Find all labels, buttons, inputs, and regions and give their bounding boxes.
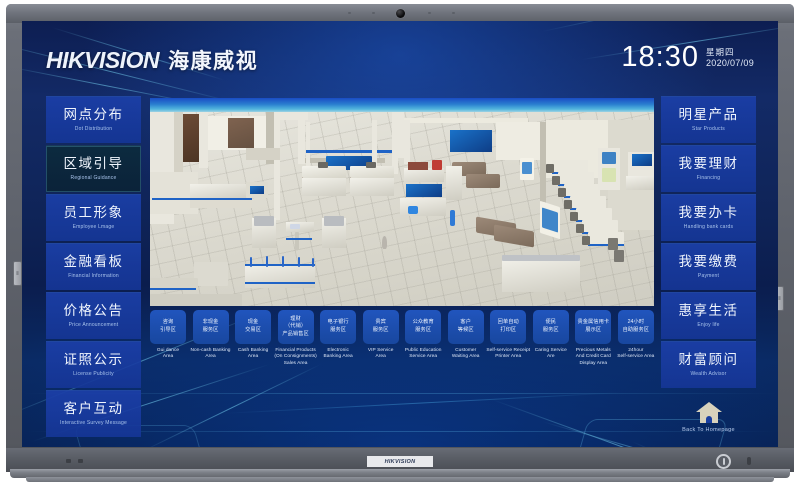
zone-label-cn: 贵宾服务区 xyxy=(373,319,389,334)
menu-item-label-en: Wealth Advisor xyxy=(690,372,726,378)
zone-label-cn: 客户等候区 xyxy=(458,319,474,334)
zone-chip[interactable]: 便民服务区 xyxy=(533,310,569,344)
menu-item-label-cn: 证照公示 xyxy=(64,352,124,368)
clock-date: 2020/07/09 xyxy=(706,58,754,70)
menu-item-label-cn: 金融看板 xyxy=(64,254,124,270)
left-menu-item-7[interactable]: 客户互动Interactive Survey Message xyxy=(46,390,141,437)
cabinet xyxy=(194,262,228,286)
right-sidebar-menu: 明星产品Star Products我要理财Financing我要办卡Handli… xyxy=(661,96,756,440)
menu-item-label-cn: 区域引导 xyxy=(64,156,124,172)
home-button-label: Back To Homepage xyxy=(682,427,735,433)
ir-receiver-icon xyxy=(747,457,751,465)
blue-trim xyxy=(286,238,312,240)
zone-label-cn: 回单自动打印区 xyxy=(498,319,519,334)
blue-trim xyxy=(588,244,624,246)
menu-item-label-en: Price Announcement xyxy=(69,323,119,329)
divider xyxy=(298,257,300,267)
zone-legend-item-6[interactable]: 贵宾服务区VIP ServiceArea xyxy=(363,310,399,367)
zone-label-en: Caring ServiceAre xyxy=(529,348,573,361)
zone-label-cn: 现金交易区 xyxy=(245,319,261,334)
zone-chip[interactable]: 客户等候区 xyxy=(448,310,484,344)
zone-chip[interactable]: 公众教育服务区 xyxy=(405,310,441,344)
display-monitor xyxy=(406,184,442,197)
decor xyxy=(432,160,442,170)
clock-widget: 18:30 星期四 2020/07/09 xyxy=(621,43,754,72)
bezel-speck xyxy=(348,12,351,14)
zone-chip[interactable]: 电子银行服务区 xyxy=(320,310,356,344)
wall xyxy=(496,122,540,160)
zone-label-cn: 24小时自助服务区 xyxy=(623,319,649,334)
right-menu-item-2[interactable]: 我要理财Financing xyxy=(661,145,756,192)
zone-label-en: Self-service ReceiptPrinter Area xyxy=(486,348,530,361)
menu-item-label-cn: 我要理财 xyxy=(679,156,739,172)
render-sky xyxy=(150,98,654,112)
zone-chip[interactable]: 非现金服务区 xyxy=(193,310,229,344)
chair xyxy=(564,200,572,209)
water-dispenser xyxy=(450,210,455,226)
menu-item-label-cn: 惠享生活 xyxy=(679,303,739,319)
blue-trim xyxy=(150,288,196,290)
wall xyxy=(298,112,305,164)
zone-label-cn: 便民服务区 xyxy=(543,319,559,334)
partition xyxy=(150,294,242,306)
center-content-panel: 咨询引导区Gui danceArea非现金服务区Non-cash Banking… xyxy=(150,98,654,388)
menu-item-label-cn: 明星产品 xyxy=(679,107,739,123)
zone-legend-row: 咨询引导区Gui danceArea非现金服务区Non-cash Banking… xyxy=(150,310,654,367)
screen-header: HIKVISION 海康威视 18:30 星期四 2020/07/09 xyxy=(22,21,778,91)
divider xyxy=(266,256,268,267)
menu-item-label-en: License Publicity xyxy=(73,372,114,378)
chair xyxy=(552,176,560,185)
right-menu-item-3[interactable]: 我要办卡Handling bank cards xyxy=(661,194,756,241)
bezel-speck xyxy=(452,12,455,14)
person-figure xyxy=(382,236,387,249)
menu-item-label-en: Enjoy life xyxy=(697,323,719,329)
menu-item-label-en: Star Products xyxy=(692,127,725,133)
monitor-stand-base xyxy=(26,477,774,482)
zone-legend-item-5[interactable]: 电子银行服务区ElectronicBanking Area xyxy=(320,310,356,367)
consult-desk xyxy=(404,168,444,182)
menu-item-label-en: Interactive Survey Message xyxy=(60,421,127,427)
right-menu-item-4[interactable]: 我要缴费Payment xyxy=(661,243,756,290)
divider xyxy=(250,257,252,267)
right-menu-item-6[interactable]: 财富顾问Wealth Advisor xyxy=(661,341,756,388)
left-menu-item-3[interactable]: 员工形象Employee Lmage xyxy=(46,194,141,241)
teller-counter xyxy=(350,178,394,196)
menu-item-label-cn: 价格公告 xyxy=(64,303,124,319)
poster-art xyxy=(522,162,532,174)
left-side-button[interactable]: ⦀ xyxy=(13,261,22,286)
led-video-wall xyxy=(450,130,492,152)
zone-label-en: Cash BankingArea xyxy=(231,348,275,361)
zone-label-cn: 理财（代销）产品销售区 xyxy=(282,316,308,339)
left-sidebar-menu: 网点分布Dot Distribution区域引导Regional Guidanc… xyxy=(46,96,141,439)
service-counter xyxy=(190,184,252,198)
clock-weekday: 星期四 xyxy=(706,47,754,58)
side-cabinet xyxy=(446,166,462,200)
zone-chip[interactable]: 理财（代销）产品销售区 xyxy=(278,310,314,344)
zone-label-cn: 咨询引导区 xyxy=(160,319,176,334)
chair xyxy=(608,238,618,250)
zone-legend-item-2[interactable]: 非现金服务区Non-cash BankingArea xyxy=(193,310,229,367)
zone-legend-item-10[interactable]: 便民服务区Caring ServiceAre xyxy=(533,310,569,367)
floorplan-3d-render[interactable] xyxy=(150,98,654,306)
atm-screen xyxy=(602,152,616,164)
touch-panel xyxy=(408,206,418,214)
menu-item-label-en: Financial Information xyxy=(68,274,119,280)
zone-label-en: ElectronicBanking Area xyxy=(316,348,360,361)
left-menu-item-2[interactable]: 区域引导Regional Guidance xyxy=(46,145,141,192)
menu-item-label-cn: 员工形象 xyxy=(64,205,124,221)
kiosk-screen xyxy=(632,154,652,166)
clock-date-block: 星期四 2020/07/09 xyxy=(706,43,754,70)
wall xyxy=(404,120,410,164)
zone-label-en: Financial Products(On Consignments)Sales… xyxy=(274,348,318,367)
menu-item-label-cn: 财富顾问 xyxy=(679,352,739,368)
menu-item-label-cn: 客户互动 xyxy=(64,401,124,417)
status-led xyxy=(78,459,83,463)
zone-legend-item-9[interactable]: 回单自动打印区Self-service ReceiptPrinter Area xyxy=(490,310,526,367)
zone-label-en: Gui danceArea xyxy=(146,348,190,361)
brand-logo: HIKVISION 海康威视 xyxy=(46,45,258,75)
logo-text-en: HIKVISION xyxy=(46,47,159,74)
blue-trim xyxy=(245,282,315,284)
menu-item-label-en: Payment xyxy=(698,274,719,280)
menu-item-label-cn: 我要办卡 xyxy=(679,205,739,221)
menu-item-label-en: Handling bank cards xyxy=(684,225,733,231)
chair xyxy=(582,236,590,245)
power-button-icon[interactable] xyxy=(716,454,731,469)
zone-label-cn: 公众教育服务区 xyxy=(413,319,434,334)
decor xyxy=(408,162,428,170)
divider xyxy=(282,256,284,267)
left-menu-item-1[interactable]: 网点分布Dot Distribution xyxy=(46,96,141,143)
zone-chip[interactable]: 贵宾服务区 xyxy=(363,310,399,344)
table-leg xyxy=(295,232,299,250)
left-menu-item-5[interactable]: 价格公告Price Announcement xyxy=(46,292,141,339)
bezel-brand-logo: HIKVISION xyxy=(367,456,433,467)
zone-label-en: Precious MetalsAnd Credit CardDisplay Ar… xyxy=(571,348,615,367)
menu-item-label-en: Employee Lmage xyxy=(73,225,115,231)
menu-item-label-cn: 网点分布 xyxy=(64,107,124,123)
menu-item-label-cn: 我要缴费 xyxy=(679,254,739,270)
left-menu-item-4[interactable]: 金融看板Financial Information xyxy=(46,243,141,290)
zone-label-cn: 非现金服务区 xyxy=(203,319,219,334)
zone-chip[interactable]: 回单自动打印区 xyxy=(490,310,526,344)
teller-counter xyxy=(302,178,346,196)
zone-legend-item-4[interactable]: 理财（代销）产品销售区Financial Products(On Consign… xyxy=(278,310,314,367)
zone-legend-item-8[interactable]: 客户等候区CustomerWaiting Area xyxy=(448,310,484,367)
zone-label-en: CustomerWaiting Area xyxy=(444,348,488,361)
right-menu-item-5[interactable]: 惠享生活Enjoy life xyxy=(661,292,756,339)
wood-panel xyxy=(228,118,254,148)
zone-chip[interactable]: 24小时自助服务区 xyxy=(618,310,654,344)
render-floor xyxy=(150,112,654,306)
wall xyxy=(246,148,280,160)
zone-label-cn: 贵金属信用卡展示区 xyxy=(577,319,609,334)
zone-label-en: Public EducationService Area xyxy=(401,348,445,361)
back-to-homepage-button[interactable]: Back To Homepage xyxy=(661,394,756,440)
display-screen: HIKVISION 海康威视 18:30 星期四 2020/07/09 网点分布… xyxy=(22,21,778,447)
zone-label-en: VIP ServiceArea xyxy=(359,348,403,361)
front-counter xyxy=(245,264,315,288)
chair xyxy=(576,224,584,233)
consult-counter xyxy=(400,198,446,216)
teller-chair xyxy=(318,162,328,168)
counter-top xyxy=(502,255,580,261)
zone-chip[interactable]: 贵金属信用卡展示区 xyxy=(575,310,611,344)
clock-time: 18:30 xyxy=(621,43,699,72)
zone-label-en: Non-cash BankingArea xyxy=(189,348,233,361)
zone-legend-item-11[interactable]: 贵金属信用卡展示区Precious MetalsAnd Credit CardD… xyxy=(575,310,611,367)
status-led xyxy=(66,459,71,463)
bezel-speck xyxy=(428,12,431,14)
wood-panel xyxy=(183,114,199,162)
wall xyxy=(372,120,377,168)
zone-legend-item-1[interactable]: 咨询引导区Gui danceArea xyxy=(150,310,186,367)
chair xyxy=(558,188,566,197)
blue-trim xyxy=(245,264,315,266)
waiting-sofa xyxy=(466,174,500,188)
left-menu-item-6[interactable]: 证照公示License Publicity xyxy=(46,341,141,388)
house-icon xyxy=(696,402,722,423)
chair xyxy=(614,250,624,262)
zone-chip[interactable]: 咨询引导区 xyxy=(150,310,186,344)
wall xyxy=(199,112,208,168)
blue-trim xyxy=(306,150,392,153)
monitor-device: ⦀ ⦀ HIKVISION 海康威视 18:30 xyxy=(0,0,800,486)
poster-art xyxy=(602,168,616,182)
teller-chair xyxy=(366,162,376,168)
zone-chip[interactable]: 现金交易区 xyxy=(235,310,271,344)
display-monitor xyxy=(250,186,264,194)
zone-label-cn: 电子银行服务区 xyxy=(328,319,349,334)
menu-item-label-en: Financing xyxy=(697,176,720,182)
kiosk-top xyxy=(254,216,274,226)
zone-label-en: 24hourSelf-service Area xyxy=(614,348,658,361)
divider xyxy=(312,258,314,267)
right-menu-item-1[interactable]: 明星产品Star Products xyxy=(661,96,756,143)
zone-legend-item-12[interactable]: 24小时自助服务区24hourSelf-service Area xyxy=(618,310,654,367)
kiosk-top xyxy=(324,216,344,226)
bezel-speck xyxy=(372,12,375,14)
zone-legend-item-3[interactable]: 现金交易区Cash BankingArea xyxy=(235,310,271,367)
wall xyxy=(306,122,310,166)
wall xyxy=(274,112,280,220)
menu-item-label-en: Dot Distribution xyxy=(75,127,112,133)
menu-item-label-en: Regional Guidance xyxy=(71,176,117,182)
service-counter xyxy=(190,200,252,208)
chair xyxy=(570,212,578,221)
front-service-counter xyxy=(502,258,580,292)
logo-text-cn: 海康威视 xyxy=(168,45,258,75)
camera-dot-icon xyxy=(396,9,405,18)
brochure xyxy=(290,224,300,229)
kiosk-base xyxy=(626,176,654,190)
chair xyxy=(546,164,554,173)
zone-legend-item-7[interactable]: 公众教育服务区Public EducationService Area xyxy=(405,310,441,367)
